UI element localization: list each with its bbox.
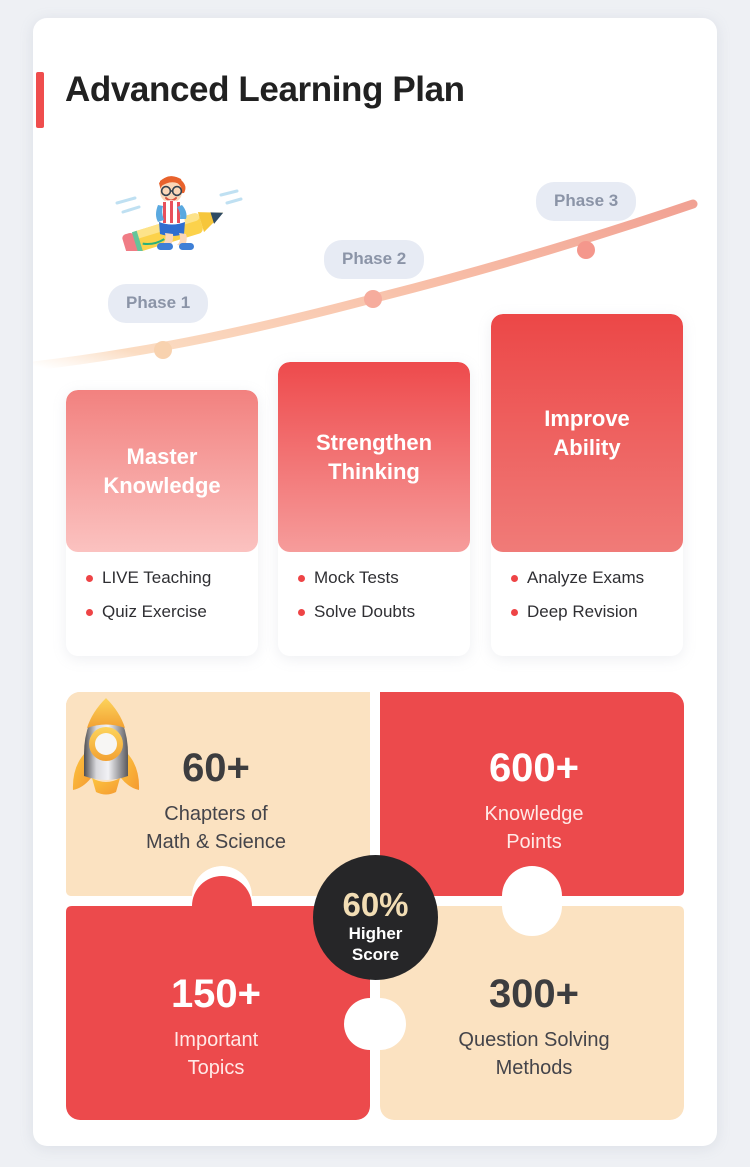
roadmap-section: Phase 1 Phase 2 Phase 3 Master Knowledge… bbox=[33, 138, 717, 658]
stat-label-line1: Chapters of bbox=[164, 803, 267, 825]
list-item-label: Analyze Exams bbox=[527, 568, 644, 588]
stat-label-line2: Points bbox=[506, 831, 562, 853]
step-card-strengthen-thinking[interactable]: Strengthen Thinking Mock Tests Solve Dou… bbox=[278, 362, 470, 656]
bullet-dot-icon bbox=[511, 609, 518, 616]
bullet-dot-icon bbox=[86, 575, 93, 582]
stat-label: Important Topics bbox=[66, 1027, 366, 1082]
boy-riding-pencil-icon bbox=[113, 165, 253, 251]
phase-2-pill[interactable]: Phase 2 bbox=[324, 240, 424, 279]
title-accent-bar bbox=[36, 72, 44, 128]
bullet-dot-icon bbox=[511, 575, 518, 582]
score-label: Higher Score bbox=[349, 924, 403, 965]
infographic-page: Advanced Learning Plan bbox=[0, 0, 750, 1167]
stat-number: 300+ bbox=[384, 974, 684, 1014]
list-item: LIVE Teaching bbox=[86, 568, 258, 588]
step-card-banner: Improve Ability bbox=[491, 314, 683, 552]
stat-important-topics: 150+ Important Topics bbox=[66, 974, 366, 1082]
stat-label-line2: Topics bbox=[188, 1057, 245, 1079]
stat-label-line1: Knowledge bbox=[485, 803, 584, 825]
score-label-line2: Score bbox=[352, 945, 399, 964]
stat-label-line2: Methods bbox=[496, 1057, 573, 1079]
stat-label-line1: Question Solving bbox=[458, 1029, 609, 1051]
step-title-line2: Ability bbox=[553, 435, 620, 460]
stat-label-line1: Important bbox=[174, 1029, 258, 1051]
stat-number: 150+ bbox=[66, 974, 366, 1014]
list-item: Quiz Exercise bbox=[86, 602, 258, 622]
score-label-line1: Higher bbox=[349, 924, 403, 943]
list-item-label: Solve Doubts bbox=[314, 602, 415, 622]
bullet-dot-icon bbox=[298, 609, 305, 616]
list-item-label: LIVE Teaching bbox=[102, 568, 211, 588]
stats-puzzle: 60+ Chapters of Math & Science 600+ Know… bbox=[66, 692, 684, 1120]
phase-3-node bbox=[577, 241, 595, 259]
bullet-dot-icon bbox=[298, 575, 305, 582]
list-item: Mock Tests bbox=[298, 568, 470, 588]
step-title-line2: Thinking bbox=[328, 459, 420, 484]
stat-number: 600+ bbox=[384, 748, 684, 788]
stat-label-line2: Math & Science bbox=[146, 831, 286, 853]
list-item-label: Deep Revision bbox=[527, 602, 638, 622]
phase-1-node bbox=[154, 341, 172, 359]
phase-1-pill[interactable]: Phase 1 bbox=[108, 284, 208, 323]
rocket-icon bbox=[66, 692, 146, 812]
phase-3-pill[interactable]: Phase 3 bbox=[536, 182, 636, 221]
score-badge: 60% Higher Score bbox=[313, 855, 438, 980]
list-item: Solve Doubts bbox=[298, 602, 470, 622]
page-title: Advanced Learning Plan bbox=[65, 70, 465, 110]
stat-question-methods: 300+ Question Solving Methods bbox=[384, 974, 684, 1082]
step-title-line1: Strengthen bbox=[316, 430, 432, 455]
step-card-improve-ability[interactable]: Improve Ability Analyze Exams Deep Revis… bbox=[491, 314, 683, 656]
bullet-dot-icon bbox=[86, 609, 93, 616]
list-item: Deep Revision bbox=[511, 602, 683, 622]
list-item-label: Quiz Exercise bbox=[102, 602, 207, 622]
step-title-line2: Knowledge bbox=[103, 473, 220, 498]
step-feature-list: Analyze Exams Deep Revision bbox=[491, 552, 683, 622]
step-feature-list: LIVE Teaching Quiz Exercise bbox=[66, 552, 258, 622]
step-title-line1: Improve bbox=[544, 406, 630, 431]
stat-knowledge-points: 600+ Knowledge Points bbox=[384, 748, 684, 856]
list-item-label: Mock Tests bbox=[314, 568, 399, 588]
score-percent: 60% bbox=[342, 888, 408, 921]
step-card-banner: Strengthen Thinking bbox=[278, 362, 470, 552]
main-card: Advanced Learning Plan bbox=[33, 18, 717, 1146]
phase-2-node bbox=[364, 290, 382, 308]
header: Advanced Learning Plan bbox=[33, 64, 717, 134]
step-card-master-knowledge[interactable]: Master Knowledge LIVE Teaching Quiz Exer… bbox=[66, 390, 258, 656]
step-card-banner: Master Knowledge bbox=[66, 390, 258, 552]
stat-label: Question Solving Methods bbox=[384, 1027, 684, 1082]
stat-label: Knowledge Points bbox=[384, 801, 684, 856]
step-feature-list: Mock Tests Solve Doubts bbox=[278, 552, 470, 622]
step-title-line1: Master bbox=[127, 444, 198, 469]
list-item: Analyze Exams bbox=[511, 568, 683, 588]
